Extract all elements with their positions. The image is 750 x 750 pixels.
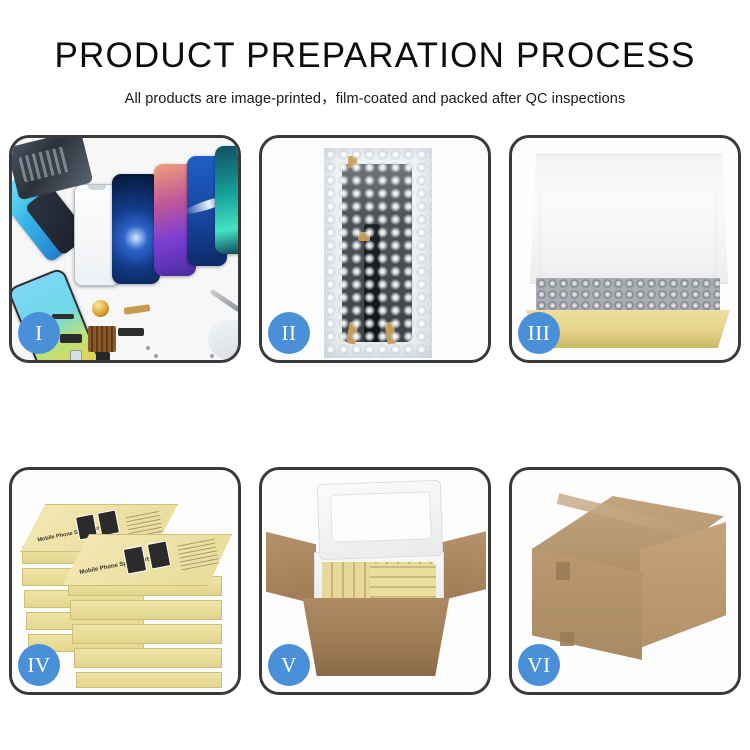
step-badge-4: IV <box>18 644 60 686</box>
step-badge-6: VI <box>518 644 560 686</box>
page-title: PRODUCT PREPARATION PROCESS <box>0 38 750 73</box>
page-subtitle: All products are image-printed，film-coat… <box>0 87 750 108</box>
phone-screen-abstract-blue <box>112 174 160 284</box>
carton-seal-lower <box>560 632 574 646</box>
process-step-cell-6: VI <box>500 456 750 706</box>
box-spec-lines-back <box>125 508 163 538</box>
logic-board-part <box>88 326 116 352</box>
process-step-panel-6[interactable]: VI <box>509 467 741 695</box>
vibration-motor-part <box>96 352 110 360</box>
styrofoam-lid <box>317 480 444 560</box>
box-spec-lines-front <box>177 538 219 571</box>
printed-box-lid-front: Mobile Phone Spare Parts <box>62 534 232 586</box>
carton-flap-left <box>266 532 316 604</box>
flex-cable-gold <box>124 304 151 315</box>
phone-screen-teal <box>215 146 238 254</box>
box-screen-image-back-2 <box>97 509 120 536</box>
process-step-grid: I II <box>0 128 750 706</box>
sim-tray-part <box>70 350 82 360</box>
process-step-cell-2: II <box>250 128 500 370</box>
process-step-panel-1[interactable]: I <box>9 135 241 363</box>
flex-cable-black-1 <box>60 334 82 343</box>
stacked-box-r5 <box>76 672 222 688</box>
camera-lens-part <box>92 300 109 317</box>
process-step-panel-3[interactable]: III <box>509 135 741 363</box>
header: PRODUCT PREPARATION PROCESS All products… <box>0 0 750 108</box>
product-preparation-infographic: PRODUCT PREPARATION PROCESS All products… <box>0 0 750 750</box>
screw-part-2 <box>154 354 158 358</box>
speaker-mesh-part <box>52 314 74 319</box>
process-step-cell-3: III <box>500 128 750 370</box>
screw-part-1 <box>146 346 150 350</box>
white-foam-pad <box>538 188 718 276</box>
stacked-box-r3 <box>72 624 222 644</box>
step-badge-1: I <box>18 312 60 354</box>
carton-seal-upper <box>556 562 570 580</box>
stacked-box-r2 <box>70 600 222 620</box>
stacked-box-r4 <box>74 648 222 668</box>
process-step-cell-1: I <box>0 128 250 370</box>
box-screen-image-front-2 <box>147 540 172 569</box>
box-screen-image-front-1 <box>123 545 148 574</box>
carton-body <box>298 598 454 676</box>
process-step-panel-5[interactable]: V <box>259 467 491 695</box>
step-badge-5: V <box>268 644 310 686</box>
process-step-cell-4: Mobile Phone Spare Parts Mobile Phone Sp… <box>0 456 250 706</box>
process-step-panel-2[interactable]: II <box>259 135 491 363</box>
screw-part-3 <box>210 354 214 358</box>
step-badge-3: III <box>518 312 560 354</box>
flex-cable-black-2 <box>118 328 144 336</box>
bubble-wrap-bag <box>324 148 432 358</box>
process-step-panel-4[interactable]: Mobile Phone Spare Parts Mobile Phone Sp… <box>9 467 241 695</box>
screwdriver-tool <box>210 289 238 312</box>
step-badge-2: II <box>268 312 310 354</box>
bubble-texture <box>324 148 432 358</box>
process-step-cell-5: V <box>250 456 500 706</box>
